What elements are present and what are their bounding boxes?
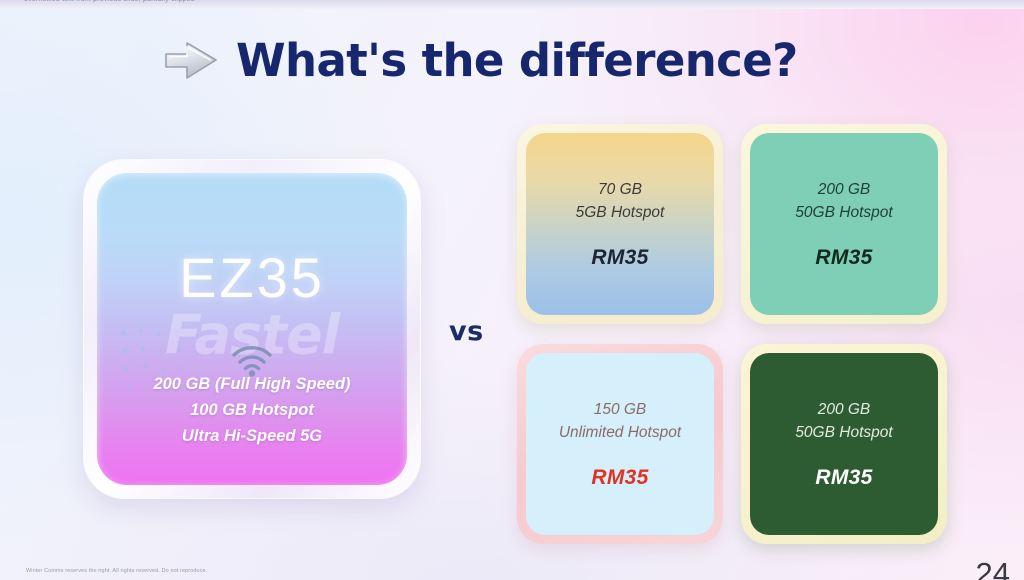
plan-hotspot-quota: 50GB Hotspot [795, 201, 892, 224]
plan-price: RM35 [591, 466, 648, 490]
plan-price: RM35 [815, 466, 872, 490]
hero-plan-card[interactable]: Fastel EZ35 200 GB (Full High Speed) 100… [84, 160, 420, 498]
plan-price: RM35 [815, 246, 872, 270]
plan-specs: 150 GB Unlimited Hotspot [559, 398, 681, 444]
plan-hotspot-quota: Unlimited Hotspot [559, 421, 681, 444]
plan-card-a-inner: 70 GB 5GB Hotspot RM35 [526, 133, 714, 315]
hero-feature-line: 200 GB (Full High Speed) [97, 371, 407, 397]
page-title: What's the difference? [236, 34, 798, 87]
hero-plan-name: EZ35 [97, 245, 407, 310]
plan-card-c[interactable]: 150 GB Unlimited Hotspot RM35 [517, 344, 723, 544]
plan-price: RM35 [591, 246, 648, 270]
competitor-plan-grid: 70 GB 5GB Hotspot RM35 200 GB 50GB Hotsp… [517, 124, 965, 558]
arrow-right-icon [160, 35, 222, 87]
plan-specs: 200 GB 50GB Hotspot [795, 178, 892, 224]
plan-card-b[interactable]: 200 GB 50GB Hotspot RM35 [741, 124, 947, 324]
hero-feature-line: Ultra Hi-Speed 5G [97, 423, 407, 449]
hero-feature-line: 100 GB Hotspot [97, 397, 407, 423]
plan-card-c-inner: 150 GB Unlimited Hotspot RM35 [526, 353, 714, 535]
plan-card-d[interactable]: 200 GB 50GB Hotspot RM35 [741, 344, 947, 544]
plan-data-quota: 150 GB [559, 398, 681, 421]
plan-data-quota: 70 GB [576, 178, 665, 201]
plan-data-quota: 200 GB [795, 178, 892, 201]
plan-card-b-inner: 200 GB 50GB Hotspot RM35 [750, 133, 938, 315]
plan-specs: 70 GB 5GB Hotspot [576, 178, 665, 224]
slide-header: What's the difference? [160, 34, 798, 87]
clipped-top-strip: overflowed text from previous slide, par… [0, 0, 1024, 9]
plan-specs: 200 GB 50GB Hotspot [795, 398, 892, 444]
hero-feature-lines: 200 GB (Full High Speed) 100 GB Hotspot … [97, 371, 407, 449]
plan-hotspot-quota: 5GB Hotspot [576, 201, 665, 224]
plan-card-d-inner: 200 GB 50GB Hotspot RM35 [750, 353, 938, 535]
plan-card-a[interactable]: 70 GB 5GB Hotspot RM35 [517, 124, 723, 324]
plan-hotspot-quota: 50GB Hotspot [795, 421, 892, 444]
plan-data-quota: 200 GB [795, 398, 892, 421]
footer-legal-note: Winter Comms reserves the right. All rig… [26, 568, 207, 574]
slide-canvas: overflowed text from previous slide, par… [0, 0, 1024, 580]
hero-card-inner: Fastel EZ35 200 GB (Full High Speed) 100… [97, 173, 407, 485]
top-strip-text: overflowed text from previous slide, par… [24, 0, 195, 3]
page-number: 24 [976, 556, 1010, 580]
vs-label: vs [449, 316, 484, 347]
